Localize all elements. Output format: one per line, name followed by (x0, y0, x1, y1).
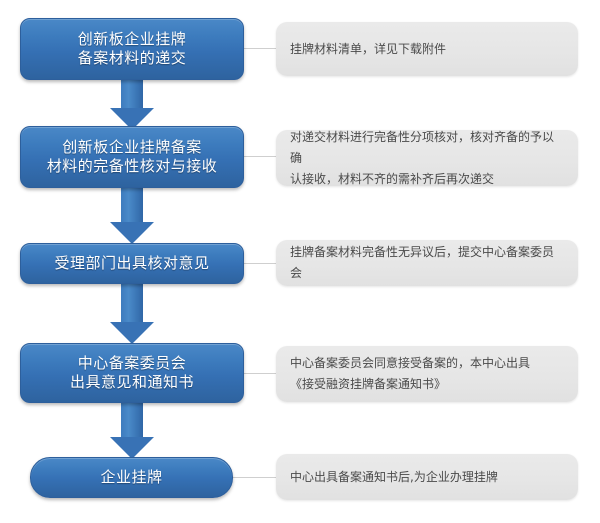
process-node-step-4[interactable]: 中心备案委员会 出具意见和通知书 (20, 343, 244, 403)
arrow-step-2-to-step-3 (87, 188, 177, 244)
process-node-label-step-4: 中心备案委员会 出具意见和通知书 (60, 354, 204, 392)
flowchart-canvas: 创新板企业挂牌 备案材料的递交 挂牌材料清单，详见下载附件 创新板企业挂牌备案 … (0, 0, 600, 523)
note-text-step-3: 挂牌备案材料完备性无异议后，提交中心备案委员会 (276, 242, 578, 284)
note-panel-step-3[interactable]: 挂牌备案材料完备性无异议后，提交中心备案委员会 (276, 240, 578, 286)
process-node-step-1[interactable]: 创新板企业挂牌 备案材料的递交 (20, 18, 244, 80)
note-text-step-2: 对递交材料进行完备性分项核对，核对齐备的予以确 认接收，材料不齐的需补齐后再次递… (276, 127, 578, 190)
arrow-step-4-to-step-5 (87, 403, 177, 459)
connector-line-step-1 (243, 48, 277, 49)
process-node-step-3[interactable]: 受理部门出具核对意见 (20, 243, 244, 284)
process-node-label-step-2: 创新板企业挂牌备案 材料的完备性核对与接收 (37, 138, 228, 176)
note-panel-step-2[interactable]: 对递交材料进行完备性分项核对，核对齐备的予以确 认接收，材料不齐的需补齐后再次递… (276, 130, 578, 186)
process-node-step-5[interactable]: 企业挂牌 (30, 457, 233, 498)
connector-line-step-5 (233, 477, 277, 478)
note-text-step-5: 中心出具备案通知书后,为企业办理挂牌 (276, 467, 512, 488)
note-text-step-1: 挂牌材料清单，详见下载附件 (276, 39, 460, 60)
arrow-step-1-to-step-2 (87, 80, 177, 130)
note-text-step-4: 中心备案委员会同意接受备案的，本中心出具 《接受融资挂牌备案通知书》 (276, 353, 544, 395)
note-panel-step-1[interactable]: 挂牌材料清单，详见下载附件 (276, 22, 578, 76)
note-panel-step-4[interactable]: 中心备案委员会同意接受备案的，本中心出具 《接受融资挂牌备案通知书》 (276, 346, 578, 402)
connector-line-step-4 (243, 373, 277, 374)
process-node-label-step-5: 企业挂牌 (90, 468, 172, 487)
process-node-label-step-3: 受理部门出具核对意见 (44, 254, 219, 273)
connector-line-step-2 (243, 156, 277, 157)
process-node-label-step-1: 创新板企业挂牌 备案材料的递交 (68, 30, 197, 68)
note-panel-step-5[interactable]: 中心出具备案通知书后,为企业办理挂牌 (276, 454, 578, 500)
connector-line-step-3 (243, 263, 277, 264)
arrow-step-3-to-step-4 (87, 284, 177, 344)
process-node-step-2[interactable]: 创新板企业挂牌备案 材料的完备性核对与接收 (20, 126, 244, 188)
